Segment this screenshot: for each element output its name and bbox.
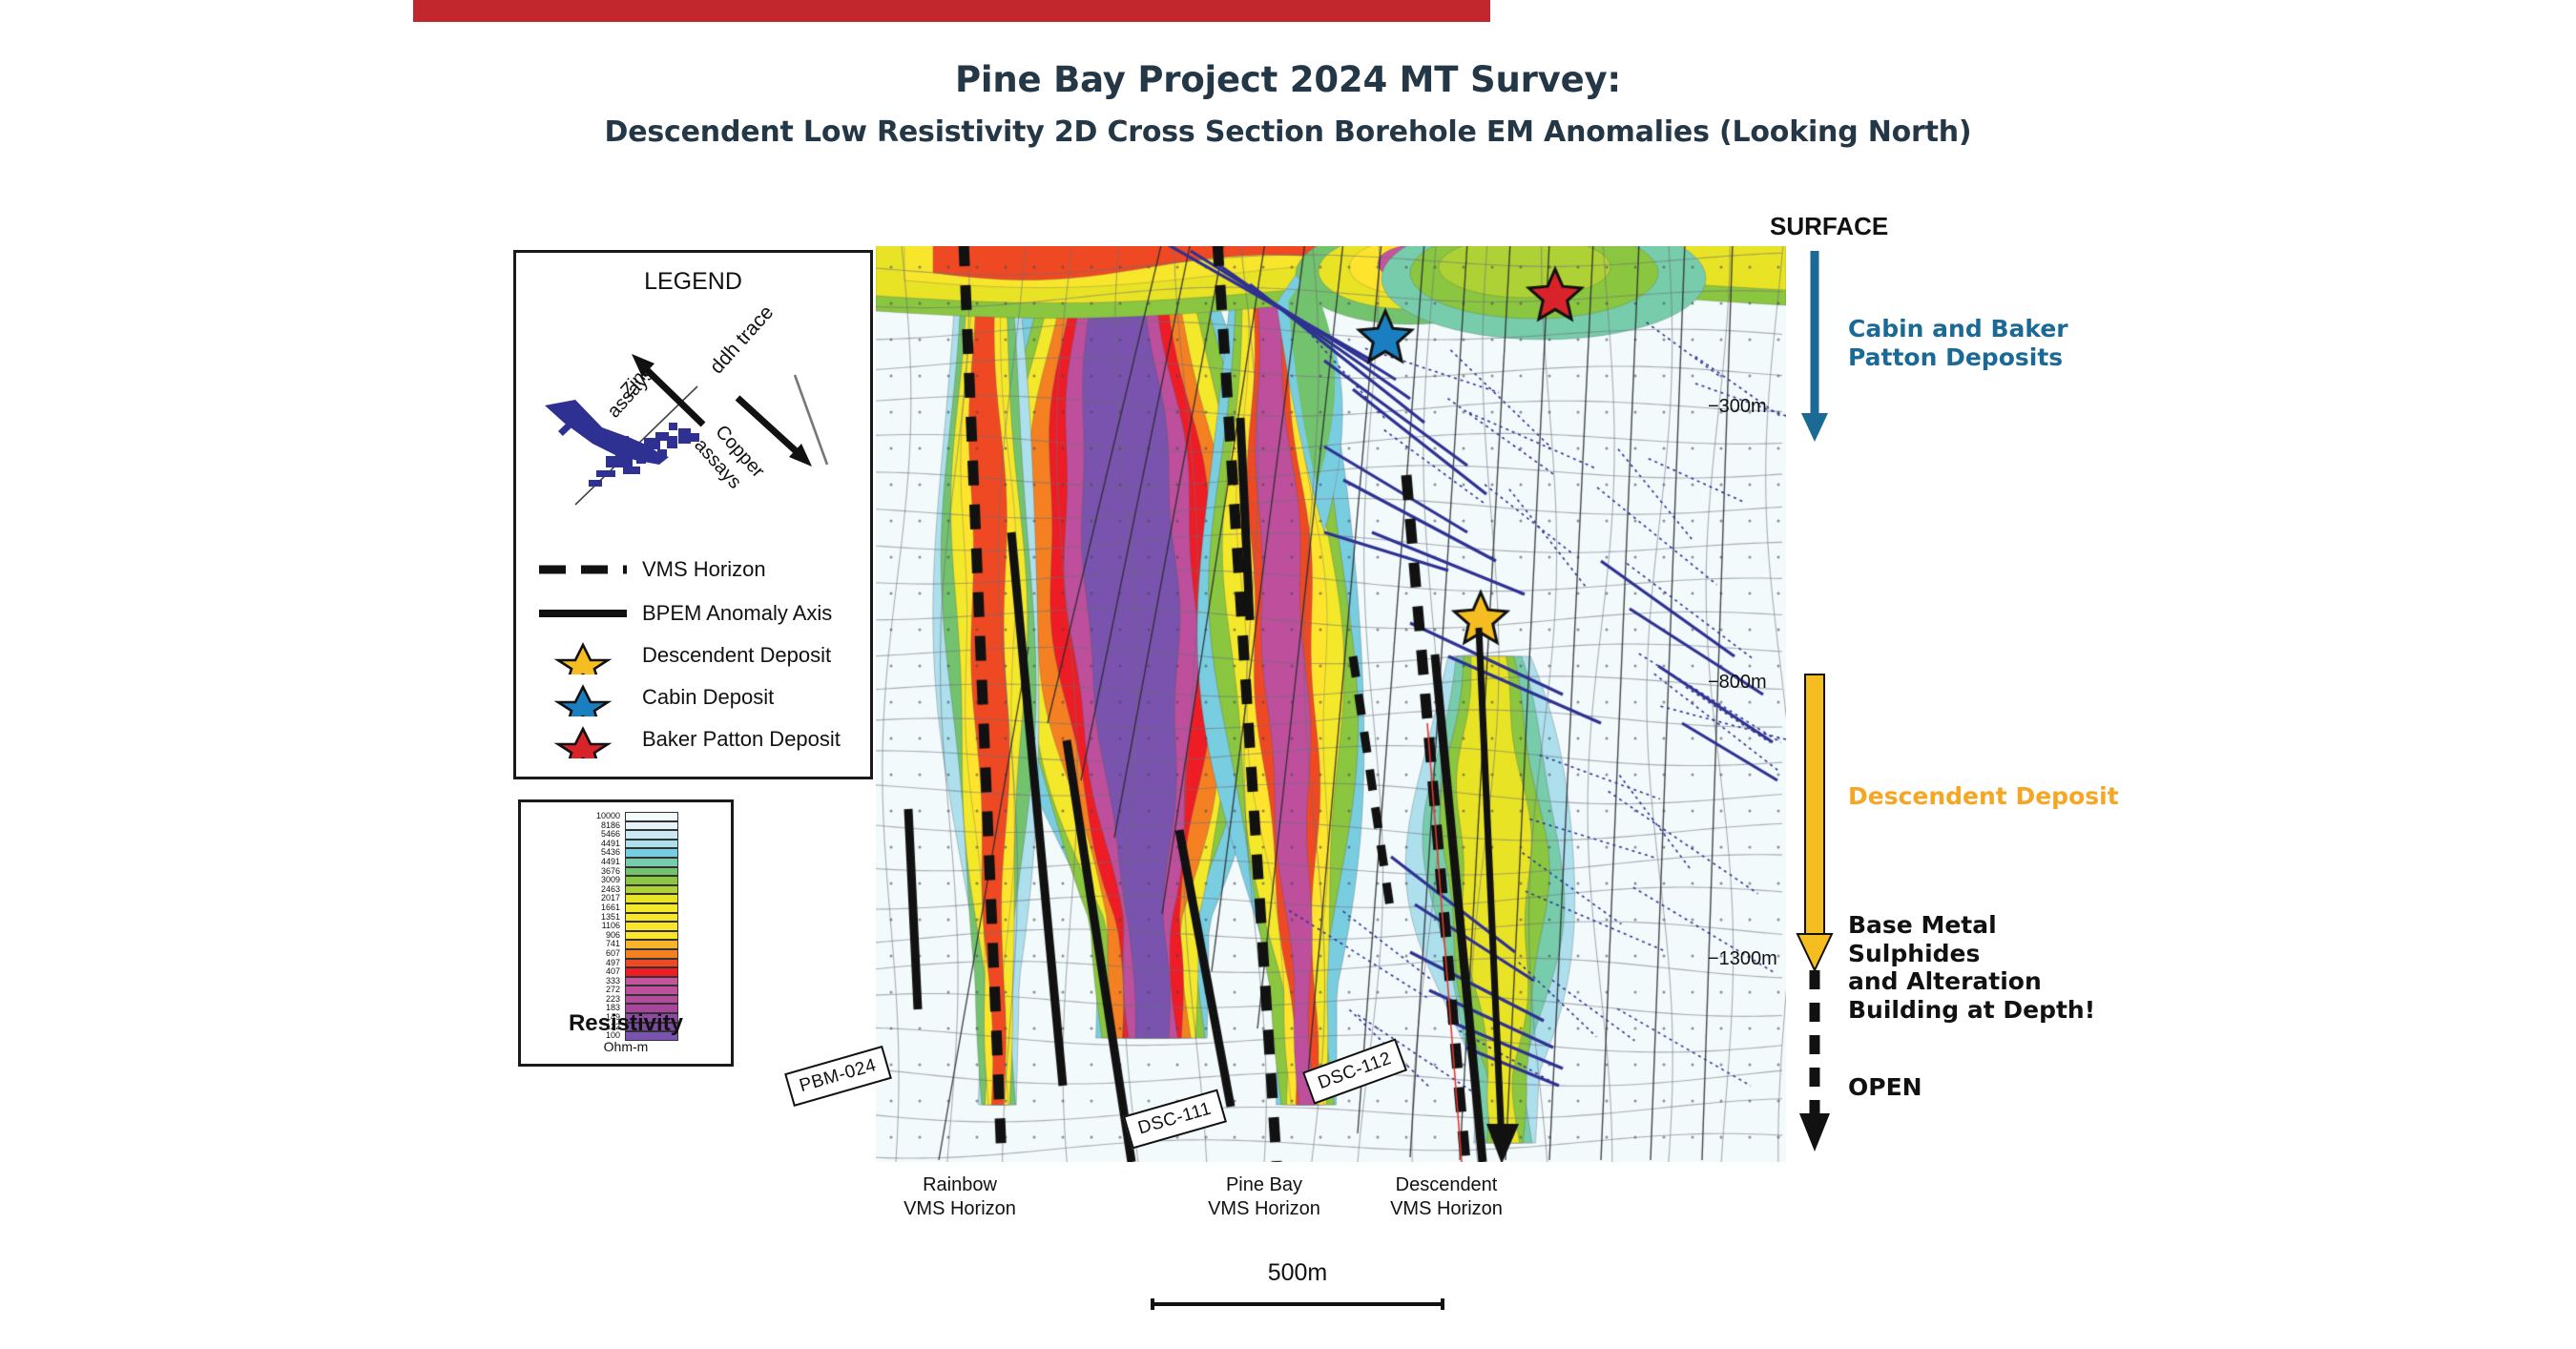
vms-horizon-label: DescendentVMS Horizon: [1341, 1173, 1551, 1221]
colorbar-swatch: [625, 867, 678, 877]
legend-ddh-label: ddh trace: [706, 301, 779, 378]
colorbar-swatch: [625, 848, 678, 858]
dashed-line-icon: [537, 556, 629, 583]
colorbar-row: 5436: [521, 848, 731, 858]
top-accent-bar: [413, 0, 1490, 22]
colorbar-row: 3676: [521, 867, 731, 877]
colorbar-row: 1106: [521, 922, 731, 931]
colorbar-row: 741: [521, 940, 731, 949]
depth-tick-label: −1300m: [1708, 948, 1777, 970]
colorbar-row: 4491: [521, 840, 731, 849]
legend-item-bpem-axis: BPEM Anomaly Axis: [537, 600, 832, 627]
colorbar-row: 8186: [521, 821, 731, 831]
annotation-cabin-baker-patton: Cabin and Baker Patton Deposits: [1848, 315, 2068, 371]
colorbar-row: 1661: [521, 903, 731, 913]
colorbar-swatch: [625, 931, 678, 941]
star-icon-cabin: [537, 684, 629, 711]
colorbar-swatch: [625, 821, 678, 831]
colorbar-row: 272: [521, 986, 731, 995]
colorbar-swatch: [625, 840, 678, 849]
colorbar-swatch: [625, 949, 678, 959]
colorbar-row: 4491: [521, 858, 731, 867]
annotation-base-metal-sulphides: Base Metal Sulphides and Alteration Buil…: [1848, 911, 2095, 1024]
colorbar-row: 407: [521, 967, 731, 977]
legend-item-vms-horizon: VMS Horizon: [537, 556, 766, 583]
colorbar-row: 1351: [521, 913, 731, 923]
legend-item-cabin-deposit: Cabin Deposit: [537, 684, 774, 711]
vms-horizon-name: Descendent: [1341, 1173, 1551, 1197]
title-line-2: Descendent Low Resistivity 2D Cross Sect…: [0, 115, 2576, 149]
colorbar-row: 3009: [521, 876, 731, 885]
colorbar-row: 333: [521, 977, 731, 986]
colorbar-row: 497: [521, 959, 731, 968]
star-icon-baker-patton: [537, 726, 629, 753]
vms-horizon-sub: VMS Horizon: [1341, 1197, 1551, 1221]
colorbar-swatch: [625, 986, 678, 995]
colorbar-swatch: [625, 959, 678, 968]
resistivity-cross-section: [876, 246, 1786, 1162]
colorbar-row: 607: [521, 949, 731, 959]
vms-horizon-sub: VMS Horizon: [1159, 1197, 1369, 1221]
legend-label-baker-patton-deposit: Baker Patton Deposit: [642, 727, 841, 752]
depth-tick-label: −800m: [1708, 672, 1767, 694]
annotation-descendent-deposit: Descendent Deposit: [1848, 782, 2119, 811]
solid-line-icon: [537, 600, 629, 627]
colorbar-swatch: [625, 977, 678, 986]
colorbar-swatch: [625, 940, 678, 949]
legend-title: LEGEND: [516, 268, 870, 296]
colorbar-swatch: [625, 812, 678, 821]
resistivity-section-canvas: [876, 246, 1786, 1162]
colorbar-units: Ohm-m: [521, 1039, 731, 1054]
star-icon-descendent: [537, 642, 629, 669]
colorbar-title: Resistivity: [521, 1010, 731, 1037]
legend-item-descendent-deposit: Descendent Deposit: [537, 642, 831, 669]
legend-label-bpem-axis: BPEM Anomaly Axis: [642, 601, 832, 626]
scale-bar: [1150, 1297, 1445, 1311]
legend-label-descendent-deposit: Descendent Deposit: [642, 643, 831, 668]
vms-horizon-name: Pine Bay: [1159, 1173, 1369, 1197]
colorbar-swatch: [625, 967, 678, 977]
colorbar-row: 906: [521, 931, 731, 941]
colorbar-swatch: [625, 903, 678, 913]
open-depth-arrow: [1799, 970, 1830, 1152]
colorbar-swatch: [625, 885, 678, 895]
annotation-base-line-1: Base Metal: [1848, 911, 2095, 940]
title-line-1: Pine Bay Project 2024 MT Survey:: [0, 59, 2576, 100]
annotation-base-line-2: Sulphides: [1848, 940, 2095, 968]
annotation-cabin-line-1: Cabin and Baker: [1848, 315, 2068, 343]
depth-tick-label: −300m: [1708, 396, 1767, 418]
surface-label: SURFACE: [1770, 212, 1888, 241]
annotation-base-line-4: Building at Depth!: [1848, 996, 2095, 1025]
colorbar-row: 2017: [521, 894, 731, 903]
resistivity-colorbar-panel: 1000081865466449154364491367630092463201…: [518, 799, 734, 1067]
colorbar-swatch: [625, 830, 678, 840]
cabin-depth-arrow: [1801, 251, 1828, 442]
legend-panel: LEGEND: [513, 250, 873, 779]
annotation-base-line-3: and Alteration: [1848, 967, 2095, 996]
legend-assay-diagram: Zinc assays ddh trace Copper assays: [516, 293, 876, 549]
colorbar-scale: 1000081865466449154364491367630092463201…: [521, 812, 731, 1041]
depth-indicator-arrows: [1794, 243, 1908, 1197]
legend-item-baker-patton-deposit: Baker Patton Deposit: [537, 726, 841, 753]
annotation-cabin-line-2: Patton Deposits: [1848, 343, 2068, 372]
colorbar-row: 2463: [521, 885, 731, 895]
vms-horizon-label: RainbowVMS Horizon: [855, 1173, 1065, 1221]
colorbar-row: 10000: [521, 812, 731, 821]
colorbar-swatch: [625, 913, 678, 923]
vms-horizon-name: Rainbow: [855, 1173, 1065, 1197]
vms-horizon-sub: VMS Horizon: [855, 1197, 1065, 1221]
page-title: Pine Bay Project 2024 MT Survey: Descend…: [0, 59, 2576, 149]
colorbar-swatch: [625, 922, 678, 931]
legend-label-vms-horizon: VMS Horizon: [642, 557, 766, 582]
colorbar-row: 5466: [521, 830, 731, 840]
annotation-open: OPEN: [1848, 1073, 1922, 1102]
descendent-depth-arrow: [1797, 674, 1832, 970]
scale-bar-label: 500m: [1202, 1259, 1393, 1287]
colorbar-row: 223: [521, 995, 731, 1005]
colorbar-swatch: [625, 894, 678, 903]
legend-label-cabin-deposit: Cabin Deposit: [642, 685, 774, 710]
colorbar-swatch: [625, 995, 678, 1005]
colorbar-swatch: [625, 876, 678, 885]
vms-horizon-label: Pine BayVMS Horizon: [1159, 1173, 1369, 1221]
colorbar-swatch: [625, 858, 678, 867]
